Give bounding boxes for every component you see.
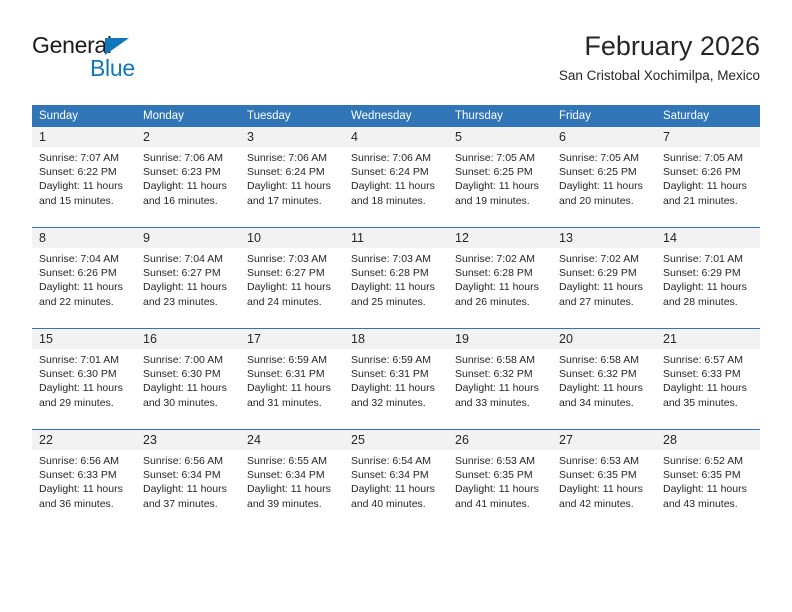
day-cell[interactable]: 8 Sunrise: 7:04 AM Sunset: 6:26 PM Dayli… [32,228,136,329]
sunrise-text: Sunrise: 6:54 AM [351,454,441,468]
sunrise-text: Sunrise: 7:03 AM [247,252,337,266]
day-details: Sunrise: 6:53 AM Sunset: 6:35 PM Dayligh… [552,450,656,511]
daylight-text: Daylight: 11 hours and 40 minutes. [351,482,441,510]
sunset-text: Sunset: 6:23 PM [143,165,233,179]
sunrise-text: Sunrise: 7:03 AM [351,252,441,266]
daylight-text: Daylight: 11 hours and 24 minutes. [247,280,337,308]
day-number: 13 [552,228,656,248]
daylight-text: Daylight: 11 hours and 31 minutes. [247,381,337,409]
daylight-text: Daylight: 11 hours and 35 minutes. [663,381,753,409]
day-number: 17 [240,329,344,349]
day-cell[interactable]: 5 Sunrise: 7:05 AM Sunset: 6:25 PM Dayli… [448,127,552,228]
sunset-text: Sunset: 6:33 PM [39,468,129,482]
day-number: 16 [136,329,240,349]
daylight-text: Daylight: 11 hours and 16 minutes. [143,179,233,207]
sunrise-text: Sunrise: 7:04 AM [39,252,129,266]
day-number: 27 [552,430,656,450]
day-number: 25 [344,430,448,450]
daylight-text: Daylight: 11 hours and 22 minutes. [39,280,129,308]
sunset-text: Sunset: 6:31 PM [351,367,441,381]
day-cell[interactable]: 21 Sunrise: 6:57 AM Sunset: 6:33 PM Dayl… [656,329,760,430]
day-cell[interactable]: 4 Sunrise: 7:06 AM Sunset: 6:24 PM Dayli… [344,127,448,228]
sunset-text: Sunset: 6:25 PM [455,165,545,179]
calendar-header-row: Sunday Monday Tuesday Wednesday Thursday… [32,105,760,127]
day-number: 5 [448,127,552,147]
sunset-text: Sunset: 6:25 PM [559,165,649,179]
daylight-text: Daylight: 11 hours and 15 minutes. [39,179,129,207]
sunrise-text: Sunrise: 7:06 AM [247,151,337,165]
day-cell[interactable]: 25 Sunrise: 6:54 AM Sunset: 6:34 PM Dayl… [344,430,448,531]
sunset-text: Sunset: 6:28 PM [351,266,441,280]
day-number: 10 [240,228,344,248]
day-details: Sunrise: 6:55 AM Sunset: 6:34 PM Dayligh… [240,450,344,511]
day-details: Sunrise: 7:03 AM Sunset: 6:27 PM Dayligh… [240,248,344,309]
daylight-text: Daylight: 11 hours and 28 minutes. [663,280,753,308]
day-cell[interactable]: 24 Sunrise: 6:55 AM Sunset: 6:34 PM Dayl… [240,430,344,531]
weekday-header-monday: Monday [136,105,240,127]
day-details: Sunrise: 6:56 AM Sunset: 6:33 PM Dayligh… [32,450,136,511]
sunrise-text: Sunrise: 7:05 AM [455,151,545,165]
daylight-text: Daylight: 11 hours and 42 minutes. [559,482,649,510]
day-cell[interactable]: 10 Sunrise: 7:03 AM Sunset: 6:27 PM Dayl… [240,228,344,329]
sunrise-text: Sunrise: 7:01 AM [663,252,753,266]
sunset-text: Sunset: 6:27 PM [247,266,337,280]
daylight-text: Daylight: 11 hours and 27 minutes. [559,280,649,308]
day-details: Sunrise: 7:06 AM Sunset: 6:24 PM Dayligh… [240,147,344,208]
sunset-text: Sunset: 6:32 PM [455,367,545,381]
daylight-text: Daylight: 11 hours and 26 minutes. [455,280,545,308]
daylight-text: Daylight: 11 hours and 33 minutes. [455,381,545,409]
day-details: Sunrise: 6:59 AM Sunset: 6:31 PM Dayligh… [344,349,448,410]
day-number: 9 [136,228,240,248]
daylight-text: Daylight: 11 hours and 25 minutes. [351,280,441,308]
sunset-text: Sunset: 6:24 PM [247,165,337,179]
sunrise-text: Sunrise: 7:06 AM [351,151,441,165]
day-cell[interactable]: 22 Sunrise: 6:56 AM Sunset: 6:33 PM Dayl… [32,430,136,531]
calendar-week-row: 8 Sunrise: 7:04 AM Sunset: 6:26 PM Dayli… [32,228,760,329]
day-number: 26 [448,430,552,450]
sunset-text: Sunset: 6:31 PM [247,367,337,381]
weekday-header-wednesday: Wednesday [344,105,448,127]
day-number: 1 [32,127,136,147]
sunset-text: Sunset: 6:22 PM [39,165,129,179]
day-cell[interactable]: 28 Sunrise: 6:52 AM Sunset: 6:35 PM Dayl… [656,430,760,531]
daylight-text: Daylight: 11 hours and 43 minutes. [663,482,753,510]
day-details: Sunrise: 7:02 AM Sunset: 6:29 PM Dayligh… [552,248,656,309]
day-details: Sunrise: 6:57 AM Sunset: 6:33 PM Dayligh… [656,349,760,410]
daylight-text: Daylight: 11 hours and 21 minutes. [663,179,753,207]
day-number: 12 [448,228,552,248]
day-cell[interactable]: 15 Sunrise: 7:01 AM Sunset: 6:30 PM Dayl… [32,329,136,430]
day-cell[interactable]: 26 Sunrise: 6:53 AM Sunset: 6:35 PM Dayl… [448,430,552,531]
sunset-text: Sunset: 6:33 PM [663,367,753,381]
sunrise-text: Sunrise: 6:53 AM [559,454,649,468]
sunset-text: Sunset: 6:35 PM [559,468,649,482]
daylight-text: Daylight: 11 hours and 36 minutes. [39,482,129,510]
sunset-text: Sunset: 6:28 PM [455,266,545,280]
day-cell[interactable]: 18 Sunrise: 6:59 AM Sunset: 6:31 PM Dayl… [344,329,448,430]
sunrise-text: Sunrise: 6:56 AM [39,454,129,468]
day-details: Sunrise: 6:54 AM Sunset: 6:34 PM Dayligh… [344,450,448,511]
sunrise-text: Sunrise: 7:02 AM [455,252,545,266]
page-subtitle: San Cristobal Xochimilpa, Mexico [559,66,760,86]
day-cell[interactable]: 9 Sunrise: 7:04 AM Sunset: 6:27 PM Dayli… [136,228,240,329]
day-details: Sunrise: 7:00 AM Sunset: 6:30 PM Dayligh… [136,349,240,410]
daylight-text: Daylight: 11 hours and 39 minutes. [247,482,337,510]
day-details: Sunrise: 6:59 AM Sunset: 6:31 PM Dayligh… [240,349,344,410]
calendar-week-row: 1 Sunrise: 7:07 AM Sunset: 6:22 PM Dayli… [32,127,760,228]
weekday-header-tuesday: Tuesday [240,105,344,127]
day-number: 24 [240,430,344,450]
sunrise-text: Sunrise: 7:07 AM [39,151,129,165]
day-details: Sunrise: 7:01 AM Sunset: 6:29 PM Dayligh… [656,248,760,309]
sunrise-text: Sunrise: 6:56 AM [143,454,233,468]
day-details: Sunrise: 7:01 AM Sunset: 6:30 PM Dayligh… [32,349,136,410]
day-details: Sunrise: 7:07 AM Sunset: 6:22 PM Dayligh… [32,147,136,208]
weekday-header-friday: Friday [552,105,656,127]
day-details: Sunrise: 7:05 AM Sunset: 6:25 PM Dayligh… [448,147,552,208]
day-number: 22 [32,430,136,450]
day-cell[interactable]: 3 Sunrise: 7:06 AM Sunset: 6:24 PM Dayli… [240,127,344,228]
daylight-text: Daylight: 11 hours and 32 minutes. [351,381,441,409]
day-cell[interactable]: 12 Sunrise: 7:02 AM Sunset: 6:28 PM Dayl… [448,228,552,329]
sunrise-text: Sunrise: 7:04 AM [143,252,233,266]
daylight-text: Daylight: 11 hours and 41 minutes. [455,482,545,510]
sunset-text: Sunset: 6:35 PM [663,468,753,482]
day-number: 7 [656,127,760,147]
sunrise-text: Sunrise: 6:58 AM [455,353,545,367]
day-number: 18 [344,329,448,349]
sunrise-text: Sunrise: 6:52 AM [663,454,753,468]
sunrise-text: Sunrise: 7:05 AM [663,151,753,165]
title-block: February 2026 San Cristobal Xochimilpa, … [559,30,760,86]
day-cell[interactable]: 19 Sunrise: 6:58 AM Sunset: 6:32 PM Dayl… [448,329,552,430]
page-header: General Blue February 2026 San Cristobal… [32,30,760,92]
day-number: 23 [136,430,240,450]
daylight-text: Daylight: 11 hours and 30 minutes. [143,381,233,409]
day-number: 21 [656,329,760,349]
logo-triangle-icon [105,38,129,55]
day-cell[interactable]: 16 Sunrise: 7:00 AM Sunset: 6:30 PM Dayl… [136,329,240,430]
page-title: February 2026 [559,30,760,62]
sunset-text: Sunset: 6:29 PM [559,266,649,280]
day-number: 11 [344,228,448,248]
sunrise-text: Sunrise: 6:57 AM [663,353,753,367]
day-number: 8 [32,228,136,248]
sunset-text: Sunset: 6:34 PM [143,468,233,482]
calendar-page: General Blue February 2026 San Cristobal… [0,0,792,612]
day-details: Sunrise: 6:58 AM Sunset: 6:32 PM Dayligh… [448,349,552,410]
daylight-text: Daylight: 11 hours and 18 minutes. [351,179,441,207]
day-number: 3 [240,127,344,147]
day-details: Sunrise: 6:58 AM Sunset: 6:32 PM Dayligh… [552,349,656,410]
sunset-text: Sunset: 6:35 PM [455,468,545,482]
day-cell[interactable]: 2 Sunrise: 7:06 AM Sunset: 6:23 PM Dayli… [136,127,240,228]
day-cell[interactable]: 11 Sunrise: 7:03 AM Sunset: 6:28 PM Dayl… [344,228,448,329]
sunset-text: Sunset: 6:24 PM [351,165,441,179]
sunrise-text: Sunrise: 6:53 AM [455,454,545,468]
sunrise-text: Sunrise: 7:00 AM [143,353,233,367]
sunrise-text: Sunrise: 7:01 AM [39,353,129,367]
calendar-body: 1 Sunrise: 7:07 AM Sunset: 6:22 PM Dayli… [32,127,760,530]
sunset-text: Sunset: 6:26 PM [39,266,129,280]
daylight-text: Daylight: 11 hours and 20 minutes. [559,179,649,207]
day-cell[interactable]: 23 Sunrise: 6:56 AM Sunset: 6:34 PM Dayl… [136,430,240,531]
calendar-week-row: 22 Sunrise: 6:56 AM Sunset: 6:33 PM Dayl… [32,430,760,531]
sunset-text: Sunset: 6:32 PM [559,367,649,381]
day-number: 19 [448,329,552,349]
day-number: 28 [656,430,760,450]
sunrise-text: Sunrise: 6:55 AM [247,454,337,468]
day-cell[interactable]: 6 Sunrise: 7:05 AM Sunset: 6:25 PM Dayli… [552,127,656,228]
day-cell[interactable]: 1 Sunrise: 7:07 AM Sunset: 6:22 PM Dayli… [32,127,136,228]
day-details: Sunrise: 7:03 AM Sunset: 6:28 PM Dayligh… [344,248,448,309]
day-details: Sunrise: 7:05 AM Sunset: 6:26 PM Dayligh… [656,147,760,208]
sunrise-text: Sunrise: 6:58 AM [559,353,649,367]
day-number: 15 [32,329,136,349]
sunrise-text: Sunrise: 7:06 AM [143,151,233,165]
day-number: 2 [136,127,240,147]
general-blue-logo: General Blue [32,32,232,88]
sunset-text: Sunset: 6:30 PM [143,367,233,381]
sunrise-text: Sunrise: 6:59 AM [247,353,337,367]
weekday-header-sunday: Sunday [32,105,136,127]
sunset-text: Sunset: 6:34 PM [351,468,441,482]
sunset-text: Sunset: 6:34 PM [247,468,337,482]
daylight-text: Daylight: 11 hours and 17 minutes. [247,179,337,207]
sunset-text: Sunset: 6:26 PM [663,165,753,179]
sunrise-text: Sunrise: 7:05 AM [559,151,649,165]
day-details: Sunrise: 7:04 AM Sunset: 6:26 PM Dayligh… [32,248,136,309]
day-cell[interactable]: 7 Sunrise: 7:05 AM Sunset: 6:26 PM Dayli… [656,127,760,228]
daylight-text: Daylight: 11 hours and 37 minutes. [143,482,233,510]
day-details: Sunrise: 6:52 AM Sunset: 6:35 PM Dayligh… [656,450,760,511]
sunset-text: Sunset: 6:29 PM [663,266,753,280]
day-cell[interactable]: 17 Sunrise: 6:59 AM Sunset: 6:31 PM Dayl… [240,329,344,430]
day-details: Sunrise: 6:56 AM Sunset: 6:34 PM Dayligh… [136,450,240,511]
logo-text-blue: Blue [90,55,135,82]
daylight-text: Daylight: 11 hours and 19 minutes. [455,179,545,207]
day-cell[interactable]: 14 Sunrise: 7:01 AM Sunset: 6:29 PM Dayl… [656,228,760,329]
daylight-text: Daylight: 11 hours and 34 minutes. [559,381,649,409]
day-details: Sunrise: 7:04 AM Sunset: 6:27 PM Dayligh… [136,248,240,309]
sunset-text: Sunset: 6:30 PM [39,367,129,381]
day-details: Sunrise: 7:02 AM Sunset: 6:28 PM Dayligh… [448,248,552,309]
sunrise-text: Sunrise: 6:59 AM [351,353,441,367]
daylight-text: Daylight: 11 hours and 29 minutes. [39,381,129,409]
day-details: Sunrise: 6:53 AM Sunset: 6:35 PM Dayligh… [448,450,552,511]
day-cell[interactable]: 27 Sunrise: 6:53 AM Sunset: 6:35 PM Dayl… [552,430,656,531]
calendar-grid: Sunday Monday Tuesday Wednesday Thursday… [32,105,760,530]
sunset-text: Sunset: 6:27 PM [143,266,233,280]
sunrise-text: Sunrise: 7:02 AM [559,252,649,266]
calendar-week-row: 15 Sunrise: 7:01 AM Sunset: 6:30 PM Dayl… [32,329,760,430]
day-cell[interactable]: 20 Sunrise: 6:58 AM Sunset: 6:32 PM Dayl… [552,329,656,430]
day-details: Sunrise: 7:05 AM Sunset: 6:25 PM Dayligh… [552,147,656,208]
day-number: 20 [552,329,656,349]
day-cell[interactable]: 13 Sunrise: 7:02 AM Sunset: 6:29 PM Dayl… [552,228,656,329]
weekday-header-thursday: Thursday [448,105,552,127]
day-number: 4 [344,127,448,147]
day-number: 6 [552,127,656,147]
weekday-header-saturday: Saturday [656,105,760,127]
daylight-text: Daylight: 11 hours and 23 minutes. [143,280,233,308]
day-number: 14 [656,228,760,248]
day-details: Sunrise: 7:06 AM Sunset: 6:24 PM Dayligh… [344,147,448,208]
day-details: Sunrise: 7:06 AM Sunset: 6:23 PM Dayligh… [136,147,240,208]
